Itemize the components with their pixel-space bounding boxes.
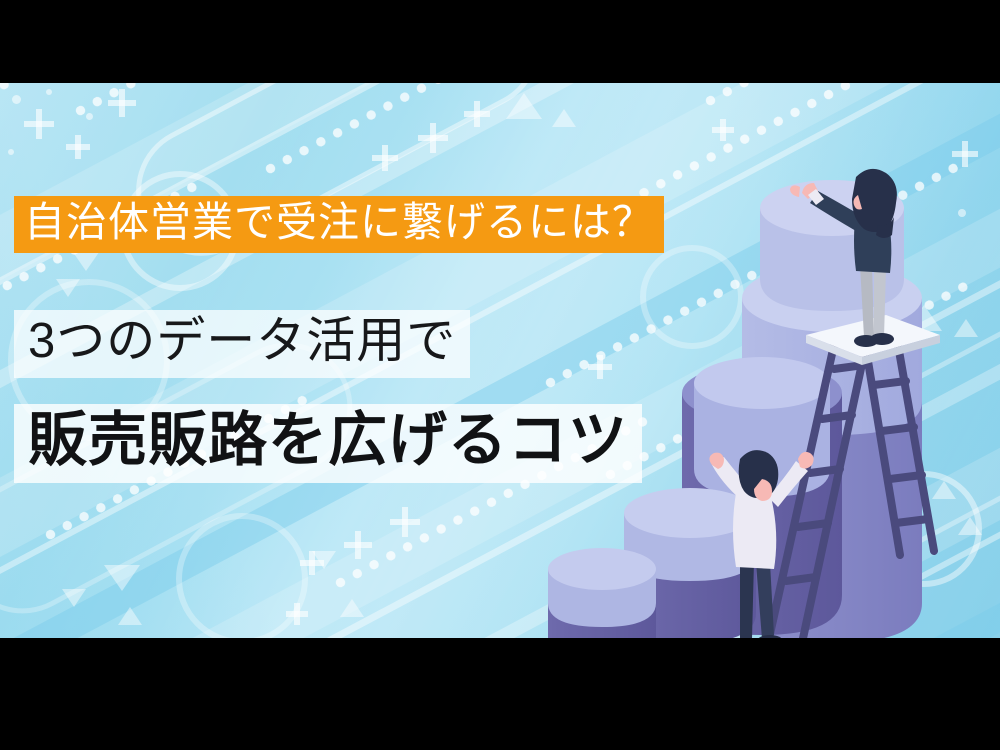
headline-line-1: 自治体営業で受注に繋げるには？ [24, 202, 654, 243]
headline-line-2: 3つのデータ活用で [28, 317, 456, 366]
letterbox-bar-bottom [0, 638, 1000, 750]
thumbnail-stage: 自治体営業で受注に繋げるには？ 3つのデータ活用で 販売販路を広げるコツ [0, 0, 1000, 750]
cylinder-small-cap [548, 548, 656, 590]
headline-band-secondary: 3つのデータ活用で [14, 310, 470, 378]
letterbox-bar-top [0, 0, 1000, 83]
cylinder-mid-upper-cap [694, 357, 830, 409]
headline-band-question: 自治体営業で受注に繋げるには？ [14, 196, 664, 253]
illustration-canvas: 自治体営業で受注に繋げるには？ 3つのデータ活用で 販売販路を広げるコツ [0, 83, 1000, 638]
headline-line-3: 販売販路を広げるコツ [28, 411, 628, 470]
headline-band-primary: 販売販路を広げるコツ [14, 404, 642, 483]
